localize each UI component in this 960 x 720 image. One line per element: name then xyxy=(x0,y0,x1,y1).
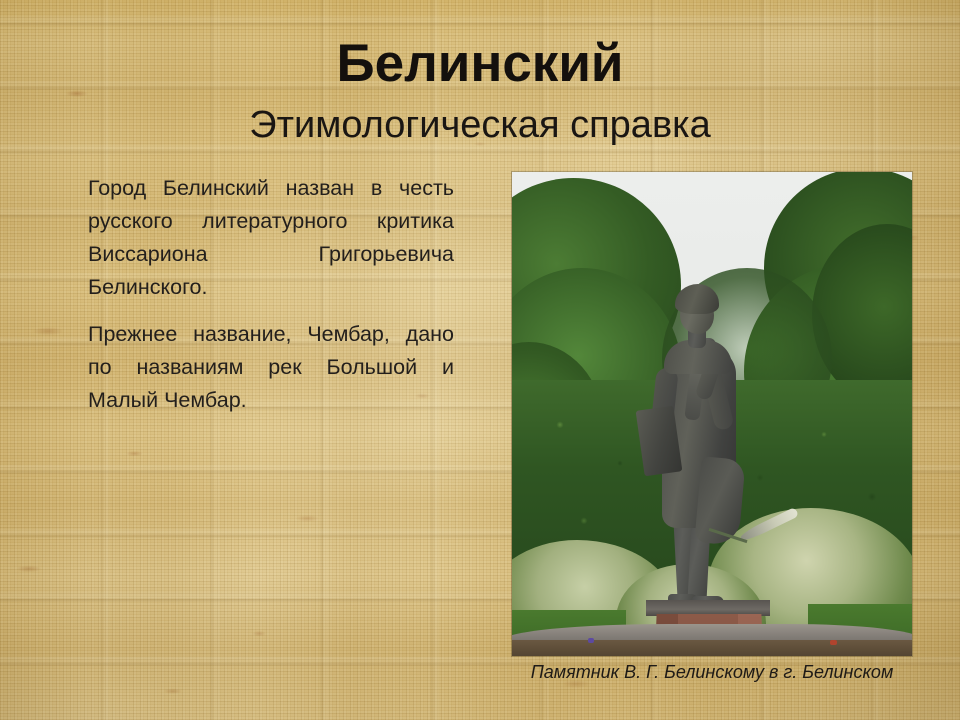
monument-photo: ВЕРЮ ВЕЛИКОЙ БУДУЩНОСТИ РОССИИ В.Г.Белин… xyxy=(512,172,912,656)
photo-caption: Памятник В. Г. Белинскому в г. Белинском xyxy=(512,660,912,684)
statue-hair xyxy=(675,284,719,314)
photo-ground-accent-red xyxy=(830,640,837,645)
slide-title: Белинский xyxy=(0,34,960,94)
body-text-column: Город Белинский назван в честь русского … xyxy=(88,172,454,417)
presentation-slide: Белинский Этимологическая справка Город … xyxy=(0,0,960,720)
slide-subtitle: Этимологическая справка xyxy=(0,102,960,148)
body-paragraph-1: Город Белинский назван в честь русского … xyxy=(88,172,454,304)
photo-ground-accent-blue xyxy=(588,638,594,643)
body-paragraph-2: Прежнее название, Чембар, дано по назван… xyxy=(88,318,454,417)
photo-ground xyxy=(512,640,912,656)
